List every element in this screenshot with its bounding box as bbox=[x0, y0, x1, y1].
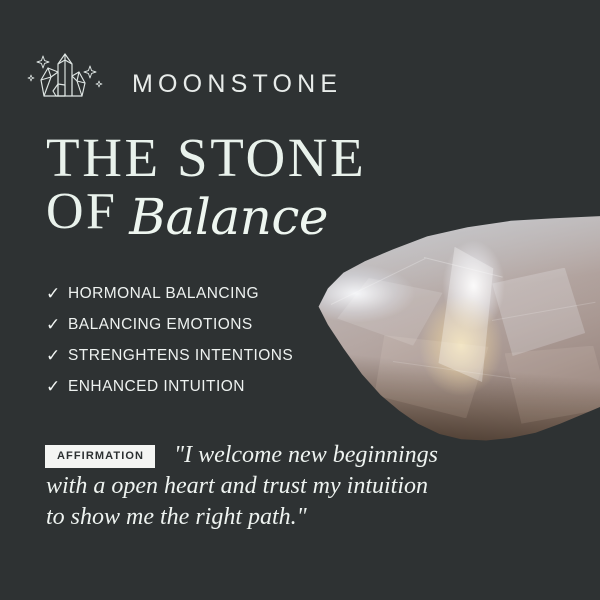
crystal-edge bbox=[492, 301, 596, 320]
headline-line-1: THE STONE bbox=[46, 130, 366, 185]
check-icon: ✓ bbox=[46, 285, 68, 302]
crystal-facet bbox=[424, 247, 505, 382]
crystal-edge bbox=[424, 257, 502, 277]
brand-wordmark: MOONSTONE bbox=[132, 70, 342, 99]
check-icon: ✓ bbox=[46, 347, 68, 364]
headline-line-2: OFBalance bbox=[46, 186, 328, 238]
affirmation-badge: AFFIRMATION bbox=[45, 445, 155, 468]
quote-line-1: "I welcome new beginnings bbox=[174, 442, 438, 468]
crystal-facet bbox=[374, 335, 498, 418]
crystal-cluster-icon bbox=[27, 44, 107, 106]
benefit-label: STRENGHTENS INTENTIONS bbox=[68, 347, 293, 365]
quote-line-3: to show me the right path." bbox=[46, 504, 307, 530]
benefit-label: BALANCING EMOTIONS bbox=[68, 316, 253, 334]
check-icon: ✓ bbox=[46, 378, 68, 395]
benefit-label: ENHANCED INTUITION bbox=[68, 378, 245, 396]
crystal-edge bbox=[393, 361, 516, 379]
list-item: ✓ ENHANCED INTUITION bbox=[46, 371, 336, 402]
moonstone-poster: MOONSTONE THE STONE OFBalance ✓ HORMONAL… bbox=[0, 0, 600, 600]
benefits-list: ✓ HORMONAL BALANCING ✓ BALANCING EMOTION… bbox=[46, 278, 336, 402]
crystal-facet bbox=[492, 268, 585, 356]
crystal-image-body bbox=[300, 200, 600, 460]
headline-of: OF bbox=[46, 183, 117, 240]
list-item: ✓ HORMONAL BALANCING bbox=[46, 278, 336, 309]
crystal-facet bbox=[505, 346, 600, 424]
quote-line-2: with a open heart and trust my intuition bbox=[46, 473, 428, 499]
list-item: ✓ STRENGHTENS INTENTIONS bbox=[46, 340, 336, 371]
list-item: ✓ BALANCING EMOTIONS bbox=[46, 309, 336, 340]
benefit-label: HORMONAL BALANCING bbox=[68, 285, 259, 303]
crystal-edge bbox=[331, 258, 426, 305]
headline-script-word: Balance bbox=[129, 188, 328, 246]
moonstone-crystal-photo bbox=[300, 200, 600, 460]
crystal-facet bbox=[337, 278, 442, 346]
check-icon: ✓ bbox=[46, 316, 68, 333]
